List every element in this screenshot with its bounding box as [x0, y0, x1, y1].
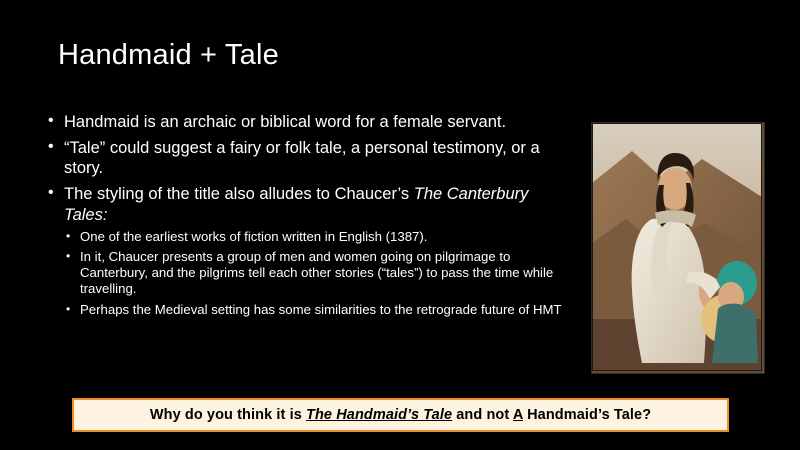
- slide-image: [591, 122, 765, 374]
- list-item: • The styling of the title also alludes …: [46, 184, 566, 317]
- bullet-list-level1: • Handmaid is an archaic or biblical wor…: [46, 112, 566, 318]
- slide-body: • Handmaid is an archaic or biblical wor…: [46, 112, 566, 324]
- bullet-glyph: •: [66, 229, 70, 244]
- list-item: • In it, Chaucer presents a group of men…: [64, 249, 566, 298]
- bullet-glyph: •: [48, 137, 54, 157]
- sub-bullet-text: In it, Chaucer presents a group of men a…: [80, 249, 553, 296]
- question-banner-text: Why do you think it is The Handmaid’s Ta…: [150, 407, 651, 423]
- banner-part-1: Why do you think it is: [150, 407, 306, 423]
- bullet-text: Handmaid is an archaic or biblical word …: [64, 113, 506, 131]
- bullet-glyph: •: [48, 111, 54, 131]
- banner-part-article: A: [513, 407, 523, 423]
- question-banner: Why do you think it is The Handmaid’s Ta…: [72, 398, 729, 432]
- bullet-glyph: •: [48, 183, 54, 203]
- list-item: • Perhaps the Medieval setting has some …: [64, 302, 566, 318]
- bullet-list-level2: • One of the earliest works of fiction w…: [64, 229, 566, 318]
- list-item: • One of the earliest works of fiction w…: [64, 229, 566, 245]
- list-item: • Handmaid is an archaic or biblical wor…: [46, 112, 566, 132]
- list-item: • “Tale” could suggest a fairy or folk t…: [46, 138, 566, 178]
- bullet-text: “Tale” could suggest a fairy or folk tal…: [64, 139, 540, 177]
- sub-bullet-text: Perhaps the Medieval setting has some si…: [80, 302, 562, 317]
- bullet-text: The styling of the title also alludes to…: [64, 185, 414, 203]
- sub-bullet-text: One of the earliest works of fiction wri…: [80, 229, 427, 244]
- banner-part-3: and not: [452, 407, 513, 423]
- painting-illustration: [592, 123, 762, 371]
- bullet-glyph: •: [66, 302, 70, 317]
- page-title: Handmaid + Tale: [58, 40, 279, 72]
- banner-part-5: Handmaid’s Tale?: [523, 407, 651, 423]
- banner-part-title: The Handmaid’s Tale: [306, 407, 452, 423]
- bullet-glyph: •: [66, 249, 70, 264]
- slide: Handmaid + Tale • Handmaid is an archaic…: [0, 0, 800, 450]
